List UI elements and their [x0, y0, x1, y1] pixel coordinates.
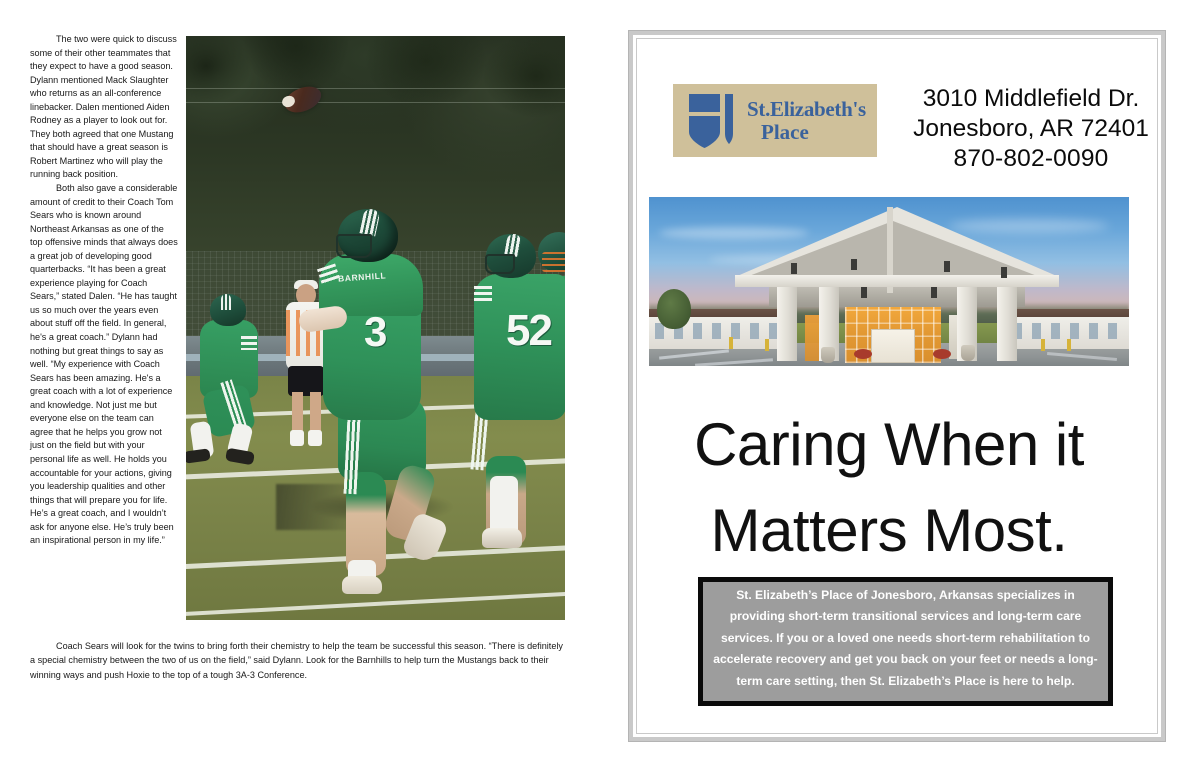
football-action-photo: 52 BARNHILL 3 — [186, 36, 565, 620]
photo-pendant-light — [861, 287, 867, 298]
photo-column — [777, 281, 797, 361]
phone-number: 870-802-0090 — [904, 144, 1158, 174]
photo-bollard — [765, 339, 769, 351]
photo-pendant-light — [931, 287, 937, 298]
ad-callout-text: St. Elizabeth’s Place of Jonesboro, Arka… — [703, 585, 1108, 699]
photo-lineman-facemask — [485, 254, 515, 274]
ad-headline: Caring When it Matters Most. — [648, 402, 1130, 574]
photo-power-wire — [186, 102, 565, 103]
photo-qb-jersey-number: 3 — [364, 308, 386, 356]
photo-gable-shadow — [741, 221, 1045, 279]
photo-dark-treeline — [186, 36, 565, 226]
photo-right-wing-windows — [1013, 323, 1125, 339]
photo-pendant-light — [791, 263, 797, 274]
photo-opponent-facemask — [542, 252, 565, 272]
photo-column — [997, 281, 1017, 361]
photo-flower-bed — [933, 349, 951, 359]
photo-bollard — [1041, 339, 1045, 351]
address-block: 3010 Middlefield Dr. Jonesboro, AR 72401… — [904, 84, 1158, 174]
photo-lineman-arm-stripes — [474, 286, 492, 301]
photo-left-player-arm-stripes — [241, 336, 257, 350]
photo-planter — [961, 345, 975, 361]
photo-qb-cleat — [342, 576, 382, 594]
article-footer-paragraph: Coach Sears will look for the twins to b… — [30, 639, 566, 682]
photo-pendant-light — [851, 259, 857, 270]
shield-icon — [687, 92, 739, 150]
left-article-page: The two were quick to discuss some of th… — [0, 0, 600, 776]
address-line-1: 3010 Middlefield Dr. — [904, 84, 1158, 114]
logo-line-1: St.Elizabeth's — [747, 99, 866, 120]
photo-sideline-person-sock — [290, 430, 304, 446]
photo-pendant-light — [1001, 267, 1007, 278]
logo-wordmark: St.Elizabeth's Place — [747, 99, 866, 143]
photo-planter — [821, 347, 835, 363]
photo-pendant-light — [944, 261, 950, 272]
photo-bollard — [1067, 339, 1071, 351]
address-line-2: Jonesboro, AR 72401 — [904, 114, 1158, 144]
photo-entry-doors — [871, 329, 915, 363]
newsletter-spread: The two were quick to discuss some of th… — [0, 0, 1200, 776]
article-paragraph-1: The two were quick to discuss some of th… — [30, 33, 178, 182]
photo-bollard — [729, 337, 733, 349]
headline-line-1: Caring When it — [648, 402, 1130, 488]
logo-line-2: Place — [761, 122, 866, 143]
photo-lineman-cleat — [482, 528, 522, 548]
photo-sideline-person-leg — [310, 392, 321, 434]
photo-power-wire — [186, 88, 565, 89]
photo-roof-soffit — [735, 275, 1059, 287]
photo-left-player-helmet-stripe — [221, 294, 231, 310]
st-elizabeths-place-logo: St.Elizabeth's Place — [673, 84, 877, 157]
ad-content-area: St.Elizabeth's Place 3010 Middlefield Dr… — [638, 40, 1156, 732]
ad-callout-box: St. Elizabeth’s Place of Jonesboro, Arka… — [698, 577, 1113, 706]
advertisement-page: St.Elizabeth's Place 3010 Middlefield Dr… — [628, 30, 1166, 742]
photo-sideline-person-leg — [292, 392, 303, 434]
photo-sideline-person-sock — [308, 430, 322, 446]
article-paragraph-2: Both also gave a considerable amount of … — [30, 182, 178, 548]
photo-lineman-jersey-number: 52 — [506, 306, 551, 356]
photo-flower-bed — [854, 349, 872, 359]
photo-qb-facemask — [336, 234, 372, 258]
photo-tree — [657, 289, 691, 329]
facility-exterior-photo — [649, 197, 1129, 366]
article-footer-text: Coach Sears will look for the twins to b… — [30, 639, 566, 682]
article-text-column: The two were quick to discuss some of th… — [30, 33, 178, 548]
headline-line-2: Matters Most. — [648, 488, 1130, 574]
